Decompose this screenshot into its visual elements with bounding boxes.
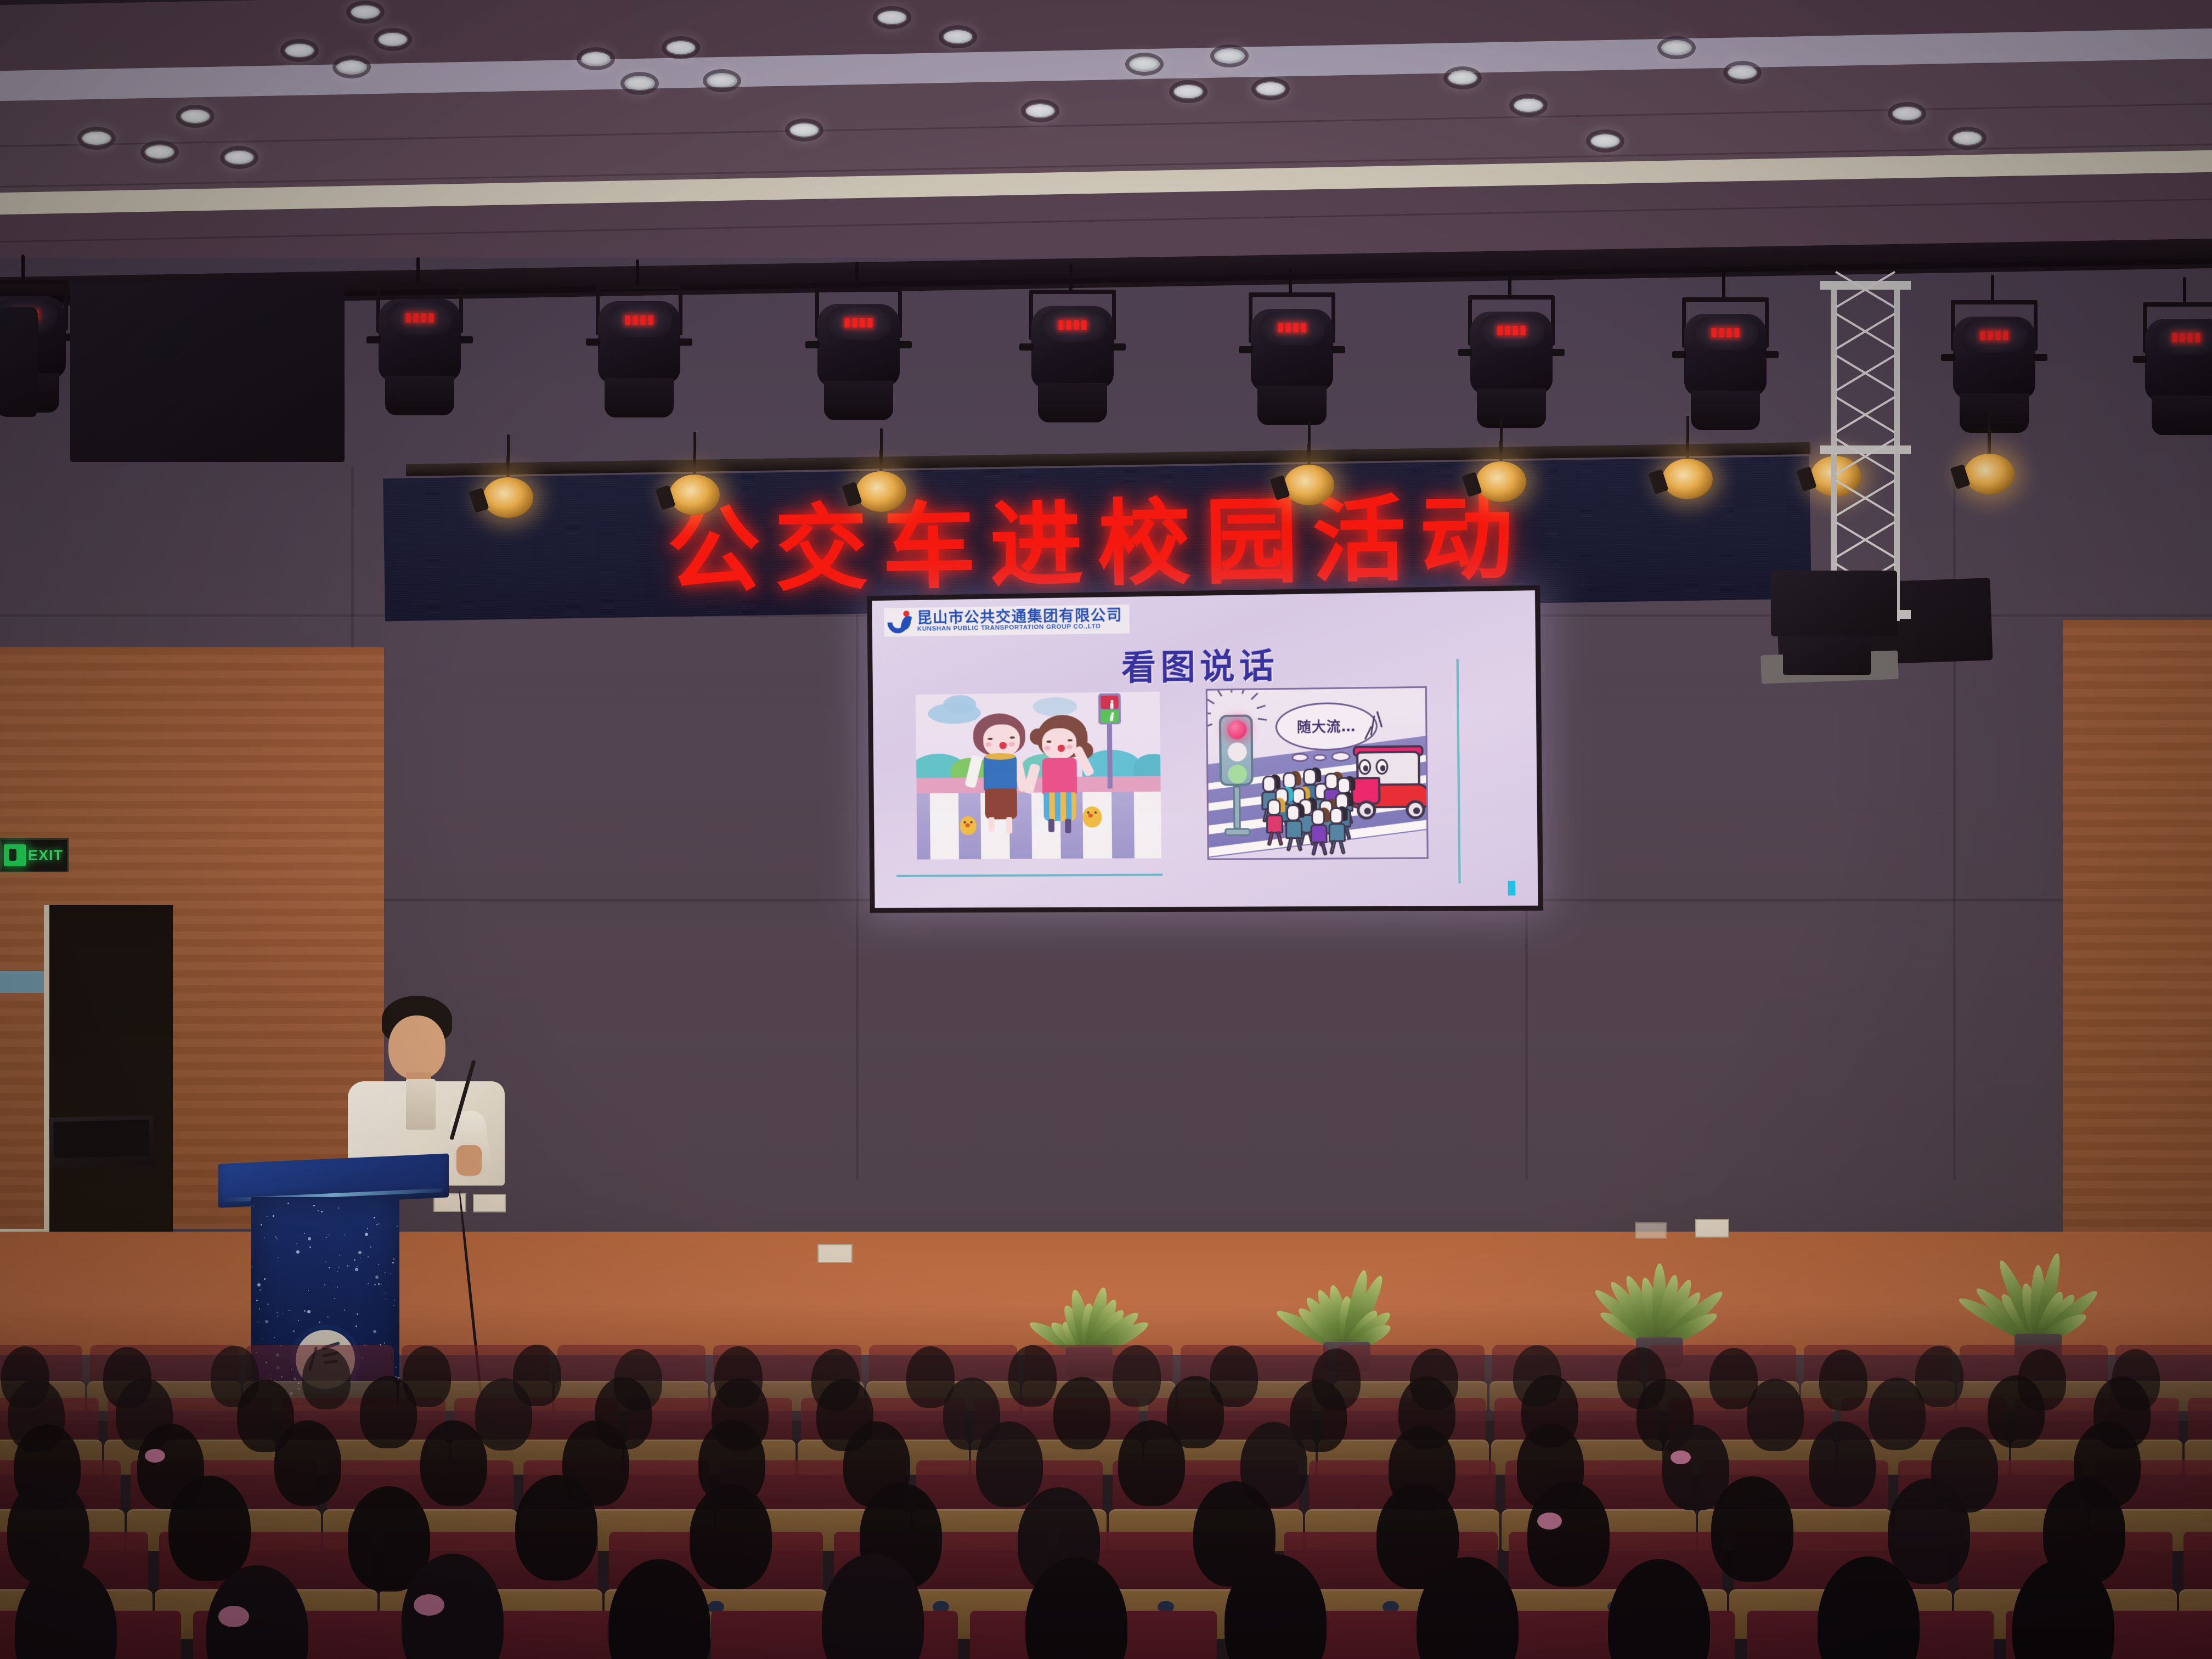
podium-star [370, 1246, 371, 1248]
laptop[interactable] [49, 1115, 154, 1169]
podium-star [289, 1310, 290, 1311]
led-banner: 公交车进校园活动 [383, 456, 1812, 622]
line-array-speaker-left [70, 281, 345, 462]
podium-star [378, 1283, 380, 1285]
podium-star [278, 1257, 279, 1258]
podium-star [252, 1266, 253, 1267]
downlight [1026, 104, 1054, 117]
podium-star [339, 1255, 340, 1256]
podium-star [337, 1271, 338, 1272]
podium-star [354, 1259, 356, 1261]
audience-head [515, 1475, 597, 1581]
podium-star [360, 1257, 361, 1259]
par-led-readout [1278, 323, 1306, 332]
audience-head [302, 1348, 351, 1409]
led-banner-text: 公交车进校园活动 [666, 462, 1528, 611]
wall-plate-right [1635, 1222, 1667, 1239]
par-can-light [598, 279, 680, 422]
warm-stage-lamp [1964, 435, 2015, 501]
podium-star [368, 1256, 369, 1257]
audience-head [1988, 1375, 2045, 1448]
downlight [708, 74, 736, 87]
audience-head [475, 1378, 532, 1451]
podium-star [275, 1236, 276, 1238]
podium-star [378, 1264, 379, 1265]
speech-bubble-text: 随大流… [1277, 715, 1376, 737]
downlight [582, 52, 610, 65]
podium-star [357, 1266, 358, 1267]
cartoon-child-boy [969, 713, 1029, 835]
downlight [790, 123, 819, 137]
podium-star [385, 1299, 386, 1300]
par-hook [1508, 271, 1511, 295]
running-man-exit-icon [4, 844, 26, 866]
podium-star [393, 1259, 394, 1260]
podium-star [293, 1330, 295, 1332]
podium-star [262, 1338, 263, 1339]
audience-head [420, 1420, 487, 1506]
podium-star [276, 1238, 278, 1239]
podium-star [287, 1203, 289, 1204]
podium-star [273, 1215, 274, 1217]
podium-star [318, 1210, 319, 1211]
par-led-readout [1498, 326, 1526, 335]
podium-star [276, 1312, 278, 1313]
downlight [1215, 49, 1244, 63]
audience-head [1527, 1481, 1610, 1587]
hair-accessory [414, 1594, 444, 1616]
podium-star [329, 1234, 330, 1235]
warm-stage-lamp [483, 459, 533, 524]
auditorium-photo: EXIT 公交车进校园活动 昆山市公共交通 [0, 0, 2212, 1659]
hanging-equipment-box [1771, 571, 1897, 636]
company-logo: 昆山市公共交通集团有限公司 KUNSHAN PUBLIC TRANSPORTAT… [884, 605, 1129, 637]
audience-head [1888, 1479, 1970, 1584]
par-led-readout [845, 318, 873, 328]
par-hook [21, 256, 25, 280]
podium-star [309, 1246, 311, 1248]
traffic-light-glow-ray [1206, 712, 1211, 715]
downlight [225, 151, 253, 164]
podium-star [390, 1273, 391, 1274]
crowd-pedestrian [1286, 804, 1310, 856]
podium-star [256, 1300, 258, 1301]
slide-panel-right: 随大流… [1206, 686, 1429, 860]
downlight [379, 33, 407, 46]
podium-star [253, 1206, 254, 1207]
downlight [1174, 85, 1203, 98]
audience-head [976, 1421, 1043, 1507]
par-led-readout [2172, 333, 2200, 342]
podium-star [338, 1207, 339, 1209]
warm-stage-lamp [1476, 443, 1526, 509]
kunshan-bus-logo-icon [887, 610, 911, 635]
podium-star [267, 1216, 268, 1217]
wood-wall-right [2063, 620, 2212, 1278]
podium-star [393, 1305, 394, 1306]
downlight [337, 60, 366, 74]
podium-star [373, 1330, 376, 1333]
podium-star [375, 1276, 379, 1279]
podium-star [282, 1313, 283, 1314]
downlight [878, 11, 906, 24]
podium-star [385, 1293, 386, 1294]
podium-star [392, 1262, 394, 1263]
exit-sign-label: EXIT [28, 847, 63, 864]
seat-back [2183, 1532, 2212, 1594]
downlight [1130, 58, 1159, 71]
podium-star [347, 1265, 348, 1267]
downlight [1728, 66, 1757, 79]
downlight [351, 5, 380, 19]
audience-head [360, 1376, 417, 1448]
ceiling [0, 0, 2212, 258]
audience-head [168, 1476, 251, 1581]
hair-accessory [218, 1606, 249, 1627]
downlight [1893, 107, 1921, 120]
podium-star [376, 1224, 377, 1225]
warm-stage-lamp [856, 453, 906, 518]
podium-star [329, 1267, 330, 1268]
crowd-pedestrian [1329, 808, 1352, 859]
downlight [625, 77, 654, 90]
hair-accessory [1671, 1451, 1691, 1464]
podium-star [327, 1316, 329, 1318]
podium-star [265, 1320, 268, 1323]
podium-star [277, 1316, 278, 1317]
podium-star [313, 1205, 315, 1206]
downlight [1953, 132, 1982, 145]
podium-star [355, 1268, 358, 1271]
podium-star [304, 1310, 306, 1312]
podium-star [358, 1251, 362, 1254]
podium-star [357, 1313, 358, 1315]
podium-star [298, 1320, 299, 1321]
podium-star [337, 1286, 338, 1288]
podium-star [264, 1237, 265, 1238]
par-led-readout [1980, 331, 2008, 340]
podium-star [257, 1321, 258, 1322]
cartoon-child-girl [1030, 714, 1091, 836]
podium-star [257, 1283, 261, 1286]
downlight [1514, 99, 1543, 112]
podium-star [367, 1228, 368, 1229]
warm-stage-lamp [669, 456, 720, 522]
podium-star [261, 1224, 262, 1226]
podium-star [259, 1308, 260, 1310]
slide-title: 看图说话 [872, 634, 1536, 693]
downlight [1662, 41, 1691, 54]
warm-stage-lamp [1662, 440, 1713, 506]
downlight [1448, 71, 1477, 84]
slide-accent-chip [1508, 881, 1516, 896]
podium-star [394, 1300, 395, 1301]
hair-accessory [1537, 1513, 1562, 1530]
par-can-light [2145, 297, 2212, 439]
seat-back [2188, 1398, 2212, 1442]
podium-star [338, 1267, 340, 1268]
par-hook [1069, 266, 1073, 290]
speaker-edge-left [0, 307, 38, 417]
podium-star [307, 1310, 311, 1313]
warm-stage-lamp [1284, 446, 1334, 512]
podium-star [374, 1284, 376, 1285]
par-hook [636, 261, 639, 285]
podium-star [296, 1250, 300, 1254]
podium-star [384, 1342, 385, 1344]
par-can-light [1470, 290, 1553, 432]
audience-head [1809, 1421, 1876, 1507]
downlight [944, 30, 972, 43]
podium-star [264, 1278, 266, 1280]
downlight [82, 132, 111, 145]
podium-star [397, 1226, 398, 1227]
par-can-light [1031, 284, 1114, 427]
par-led-readout [1712, 328, 1740, 337]
par-hook [1991, 276, 1994, 300]
podium-star [274, 1337, 275, 1338]
projection-screen: 昆山市公共交通集团有限公司 KUNSHAN PUBLIC TRANSPORTAT… [872, 590, 1538, 908]
downlight [1256, 82, 1285, 95]
slide-panel-left [916, 692, 1161, 860]
par-hook [1289, 268, 1292, 292]
hair-accessory [145, 1449, 165, 1463]
podium-star [259, 1289, 261, 1291]
downlight [285, 44, 314, 57]
audience-head [1118, 1420, 1185, 1506]
wall-outlet-center[interactable] [817, 1244, 853, 1263]
podium-star [334, 1298, 335, 1299]
par-can-light [1251, 287, 1333, 430]
par-hook [416, 258, 420, 283]
par-can-light [817, 282, 900, 425]
podium-star [365, 1233, 368, 1236]
podium-star [344, 1310, 345, 1311]
audience-head [1711, 1476, 1793, 1582]
podium-star [378, 1223, 379, 1224]
podium-star [381, 1284, 382, 1285]
wall-outlet-right[interactable] [1695, 1219, 1729, 1238]
audience-head [274, 1420, 341, 1506]
podium-star [304, 1233, 305, 1234]
podium-star [308, 1237, 311, 1240]
slide-accent-line-h [896, 873, 1163, 877]
audience-head [1008, 1345, 1057, 1407]
audience-head [1819, 1350, 1867, 1411]
podium-star [326, 1237, 327, 1238]
podium-star [368, 1283, 369, 1284]
podium-star [319, 1322, 320, 1323]
par-hook [1722, 273, 1725, 297]
downlight [145, 145, 174, 159]
par-can-light [379, 277, 461, 420]
audience-head [1869, 1378, 1926, 1450]
podium-star [374, 1217, 375, 1218]
par-can-light [1684, 292, 1767, 435]
slide-accent-line-v [1457, 659, 1461, 883]
podium-star [356, 1325, 357, 1327]
cartoon-chick-left [960, 816, 977, 835]
par-hook [2183, 278, 2186, 302]
downlight [667, 41, 695, 54]
audience-head [1113, 1345, 1161, 1407]
podium-star [385, 1272, 386, 1273]
par-can-light [1953, 295, 2035, 437]
par-led-readout [406, 313, 434, 323]
scissor-lift-truss [1824, 281, 1906, 621]
cartoon-chick-right [1082, 806, 1102, 828]
podium-star [321, 1211, 323, 1212]
podium-star [344, 1234, 345, 1235]
par-hook [855, 263, 859, 287]
par-led-readout [1059, 320, 1087, 330]
podium-star [325, 1261, 326, 1262]
podium-star [267, 1304, 269, 1305]
cartoon-car [1351, 751, 1429, 822]
downlight [1591, 134, 1620, 148]
podium-star [324, 1284, 325, 1285]
exit-sign: EXIT [0, 838, 69, 872]
audience-head [1053, 1377, 1110, 1449]
audience-head [1747, 1379, 1804, 1451]
par-led-readout [625, 315, 653, 325]
audience-head [690, 1484, 772, 1589]
downlight [181, 110, 210, 123]
podium-star [296, 1243, 297, 1244]
slide-surface: 昆山市公共交通集团有限公司 KUNSHAN PUBLIC TRANSPORTAT… [872, 590, 1538, 908]
podium-star [308, 1290, 309, 1291]
